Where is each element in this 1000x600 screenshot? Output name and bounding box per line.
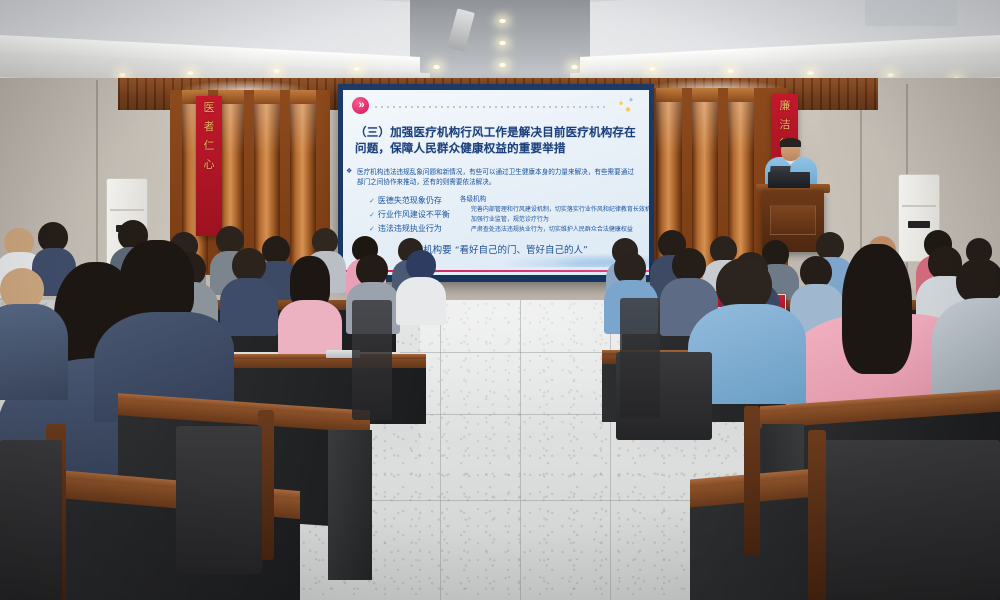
desk-leg-front-left xyxy=(328,430,372,580)
torso xyxy=(220,278,278,336)
floor-tile-line xyxy=(610,300,611,600)
slide-surface: » （三）加强医疗机构行风工作是解决目前医疗机构存在问题，保障人民群众健康权益的… xyxy=(343,90,649,275)
lectern-front-panel xyxy=(770,205,816,235)
slide-right-line: 严肃查处违法违规执业行为，切实维护人民群众合法健康权益 xyxy=(460,225,649,235)
hair-long xyxy=(842,244,912,374)
banner-char: 仁 xyxy=(196,134,222,153)
laptop-base xyxy=(768,172,810,188)
slide-list-item: ✓行业作风建设不平衡 xyxy=(369,208,450,222)
downlight-icon xyxy=(272,68,281,74)
projection-screen: » （三）加强医疗机构行风工作是解决目前医疗机构存在问题，保障人民群众健康权益的… xyxy=(338,84,654,282)
downlight-icon xyxy=(186,70,195,76)
slide-divider xyxy=(375,106,609,108)
slide-wave-decoration xyxy=(343,241,649,267)
banner-char: 心 xyxy=(196,153,222,172)
downlight-icon xyxy=(432,64,441,70)
chair-aisle-left xyxy=(352,300,392,420)
downlight-icon xyxy=(726,68,735,74)
slide-list-item: ✓违法违规执业行为 xyxy=(369,222,450,236)
downlight-icon xyxy=(498,40,507,46)
downlight-icon xyxy=(498,18,507,24)
floor-tile-line xyxy=(350,500,710,501)
torso xyxy=(396,277,446,325)
column-highlight xyxy=(290,90,316,275)
slide-list-label: 医德失范现象仍存 xyxy=(378,196,442,205)
column-cap xyxy=(692,88,718,102)
chevron-circle-logo-icon: » xyxy=(352,97,369,114)
slide-title: （三）加强医疗机构行风工作是解决目前医疗机构存在问题，保障人民群众健康权益的重要… xyxy=(355,124,641,156)
column-cap xyxy=(728,88,754,102)
slide-right-header: 各级机构 xyxy=(460,194,649,205)
chair-back-left xyxy=(0,440,62,600)
aisle-highlight xyxy=(420,300,640,600)
check-icon: ✓ xyxy=(369,211,375,219)
downlight-icon xyxy=(806,70,815,76)
slide-bullet-text: 医疗机构违法违规乱象问题和新情况，有些可以通过卫生健康本身的力量来解决，有些需要… xyxy=(357,168,639,187)
chair-back-right2 xyxy=(824,440,1000,600)
floor-tile-line xyxy=(440,300,441,600)
column-cap xyxy=(290,90,316,104)
banner-char: 洁 xyxy=(772,113,798,132)
slide-columns: ✓医德失范现象仍存 ✓行业作风建设不平衡 ✓违法违规执业行为 各级机构 完善内部… xyxy=(369,194,641,236)
downlight-icon xyxy=(648,66,657,72)
chair-frame-right2 xyxy=(808,430,826,600)
slide-left-column: ✓医德失范现象仍存 ✓行业作风建设不平衡 ✓违法违规执业行为 xyxy=(369,194,450,236)
wood-column xyxy=(290,90,316,275)
banner-char: 医 xyxy=(196,96,222,115)
slide-right-line: 完善内部管理和行风建设机制，切实落实行业作风和纪律教育长效机制 xyxy=(460,205,649,215)
check-icon: ✓ xyxy=(369,225,375,233)
check-icon: ✓ xyxy=(369,197,375,205)
chair-frame-right xyxy=(744,406,760,556)
banner-char: 者 xyxy=(196,115,222,134)
slide-right-column: 各级机构 完善内部管理和行风建设机制，切实落实行业作风和纪律教育长效机制 加强行… xyxy=(460,194,649,236)
column-cap xyxy=(254,90,280,104)
chair-back-left2 xyxy=(176,426,262,574)
column-cap xyxy=(656,88,682,102)
chair-aisle-right xyxy=(620,298,660,418)
slide-right-line: 加强行业监管，规范诊疗行为 xyxy=(460,215,649,225)
downlight-icon xyxy=(498,62,507,68)
slide-list-label: 行业作风建设不平衡 xyxy=(378,210,450,219)
banner-char: 廉 xyxy=(772,94,798,113)
slide-sparkle-decoration-icon xyxy=(617,96,637,114)
red-banner-left: 医 者 仁 心 xyxy=(196,96,222,236)
downlight-icon xyxy=(352,66,361,72)
ceiling-center-inset xyxy=(865,0,957,26)
slide-bottom-rule xyxy=(343,270,649,272)
conference-hall-photo: 医 者 仁 心 廉 洁 行 » （三）加强医疗机构行风工作是解决目前医疗机构存在… xyxy=(0,0,1000,600)
torso xyxy=(278,300,342,356)
head xyxy=(262,236,290,264)
downlight-icon xyxy=(570,64,579,70)
head xyxy=(672,248,706,282)
floor-tile-line xyxy=(520,300,521,600)
slide-list-label: 违法违规执业行为 xyxy=(378,224,442,233)
torso xyxy=(932,298,1000,398)
slide-list-item: ✓医德失范现象仍存 xyxy=(369,194,450,208)
head xyxy=(406,250,436,280)
torso xyxy=(0,304,68,400)
head xyxy=(232,248,266,282)
wall-seam xyxy=(96,80,98,280)
slide-bullet-icon: ❖ xyxy=(346,169,351,174)
speaker-hair xyxy=(780,138,801,147)
